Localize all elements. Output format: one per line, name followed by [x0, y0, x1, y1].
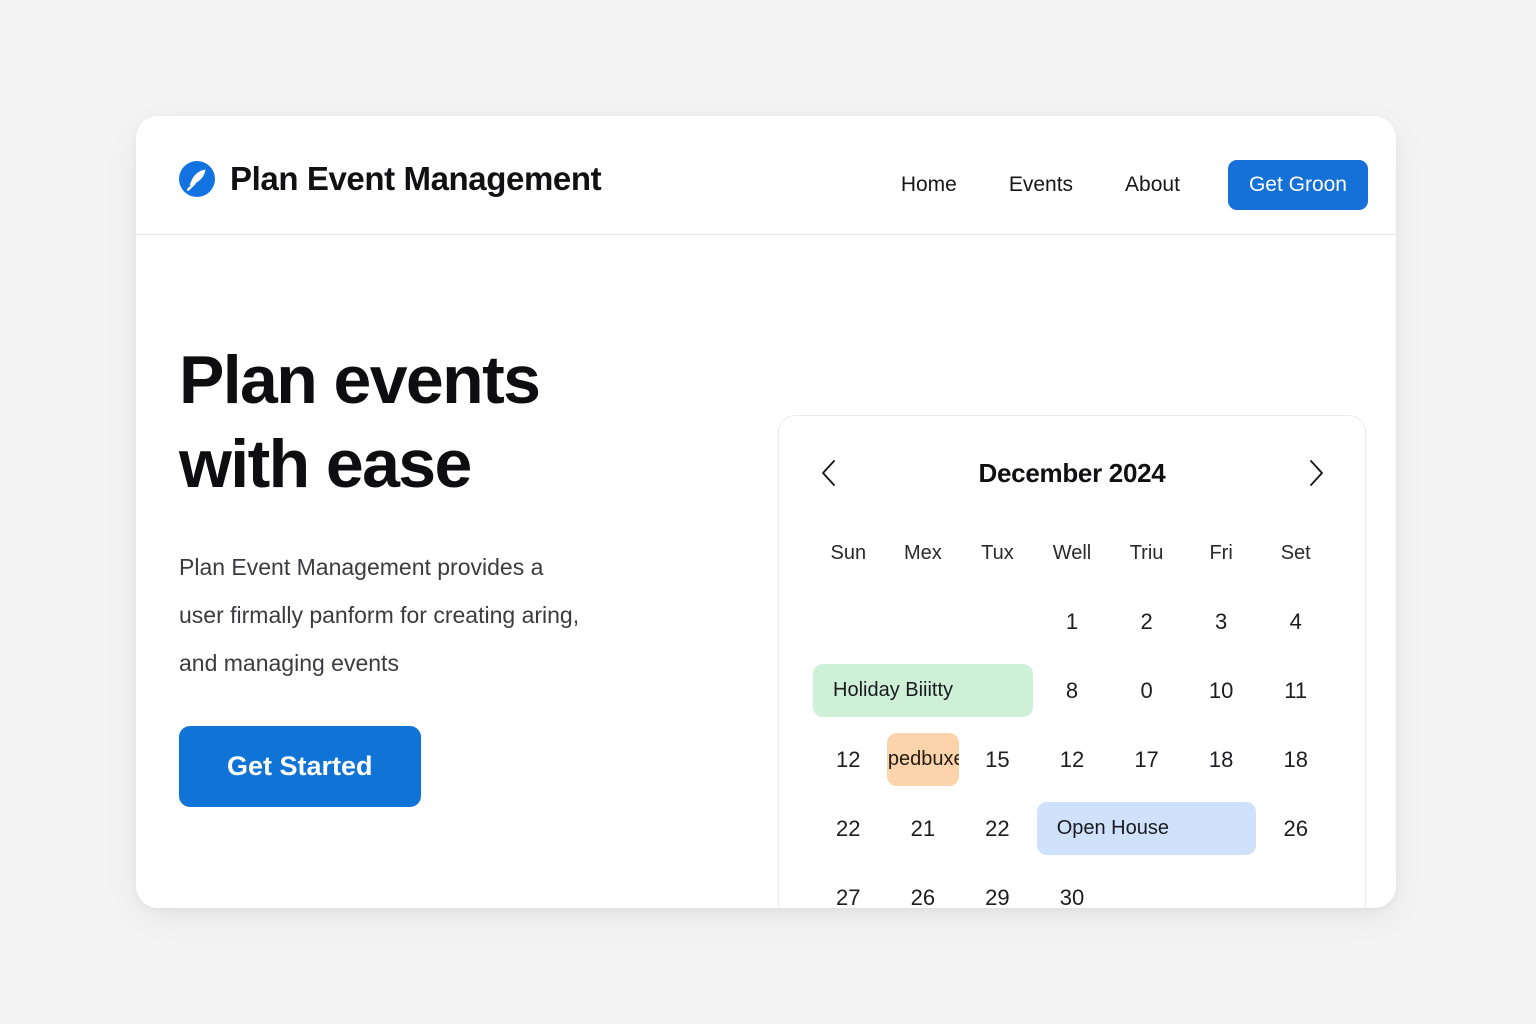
calendar-day[interactable]: 12: [811, 725, 886, 794]
hero-paragraph-line2: user firmally panform for creating aring…: [179, 602, 579, 628]
calendar-event[interactable]: Spedbuxer: [887, 733, 960, 786]
weekday-header: Well: [1035, 529, 1110, 577]
calendar-day[interactable]: 18: [1184, 725, 1259, 794]
calendar-day[interactable]: 22: [960, 794, 1035, 863]
hero-paragraph: Plan Event Management provides a user fi…: [179, 544, 699, 687]
nav-item-home[interactable]: Home: [875, 173, 983, 197]
calendar-day[interactable]: 12: [1035, 725, 1110, 794]
calendar-day[interactable]: 15: [960, 725, 1035, 794]
weekday-header: Tux: [960, 529, 1035, 577]
calendar-month-title: December 2024: [979, 458, 1166, 489]
hero-section: Plan events with ease Plan Event Managem…: [179, 339, 779, 807]
calendar-event[interactable]: Open House: [1037, 802, 1257, 855]
get-started-button[interactable]: Get Started: [179, 726, 421, 807]
weekday-header: Triu: [1109, 529, 1184, 577]
calendar-day-empty: [1184, 863, 1259, 908]
calendar-day[interactable]: 1: [1035, 587, 1110, 656]
calendar-day[interactable]: 11: [1258, 656, 1333, 725]
calendar-header: December 2024: [811, 446, 1333, 500]
chevron-right-glyph: [1308, 459, 1325, 487]
nav-item-events[interactable]: Events: [983, 173, 1099, 197]
hero-paragraph-line3: and managing events: [179, 650, 399, 676]
main-nav: Home Events About Get Groon: [875, 160, 1368, 210]
calendar-day[interactable]: 26: [886, 863, 961, 908]
hero-title-line1: Plan events: [179, 342, 539, 418]
calendar-day[interactable]: 30: [1035, 863, 1110, 908]
app-window: Plan Event Management Home Events About …: [136, 116, 1396, 908]
calendar-day[interactable]: 17: [1109, 725, 1184, 794]
weekday-header: Set: [1258, 529, 1333, 577]
calendar-day[interactable]: 22: [811, 794, 886, 863]
hero-paragraph-line1: Plan Event Management provides a: [179, 554, 543, 580]
weekday-header: Fri: [1184, 529, 1259, 577]
chevron-left-glyph: [820, 459, 837, 487]
hero-title-line2: with ease: [179, 426, 471, 502]
calendar-day[interactable]: 8: [1035, 656, 1110, 725]
calendar-day[interactable]: 4: [1258, 587, 1333, 656]
calendar-grid: SunMexTuxWellTriuFriSet1234Holiday Biiit…: [811, 518, 1333, 908]
calendar-day-empty: [886, 587, 961, 656]
calendar-widget: December 2024 SunMexTuxWellTriuFriSet123…: [778, 415, 1366, 908]
nav-item-about[interactable]: About: [1099, 173, 1206, 197]
calendar-day-empty: [960, 587, 1035, 656]
calendar-day-empty: [811, 587, 886, 656]
calendar-day[interactable]: 2: [1109, 587, 1184, 656]
chevron-left-icon[interactable]: [811, 456, 845, 490]
weekday-header: Sun: [811, 529, 886, 577]
weekday-header: Mex: [886, 529, 961, 577]
calendar-day[interactable]: 10: [1184, 656, 1259, 725]
calendar-day[interactable]: 21: [886, 794, 961, 863]
hero-title: Plan events with ease: [179, 339, 779, 506]
calendar-day[interactable]: 0: [1109, 656, 1184, 725]
calendar-day[interactable]: 18: [1258, 725, 1333, 794]
feather-pen-logo-icon: [178, 160, 216, 198]
brand[interactable]: Plan Event Management: [178, 160, 601, 198]
page-content: Plan events with ease Plan Event Managem…: [136, 235, 1396, 907]
get-groon-button[interactable]: Get Groon: [1228, 160, 1368, 210]
calendar-event[interactable]: Holiday Biiitty: [813, 664, 1033, 717]
calendar-day-empty: [1109, 863, 1184, 908]
calendar-day[interactable]: 27: [811, 863, 886, 908]
brand-name: Plan Event Management: [230, 160, 601, 198]
site-header: Plan Event Management Home Events About …: [136, 116, 1396, 235]
calendar-day[interactable]: 3: [1184, 587, 1259, 656]
chevron-right-icon[interactable]: [1299, 456, 1333, 490]
calendar-day[interactable]: 26: [1258, 794, 1333, 863]
calendar-day[interactable]: 29: [960, 863, 1035, 908]
